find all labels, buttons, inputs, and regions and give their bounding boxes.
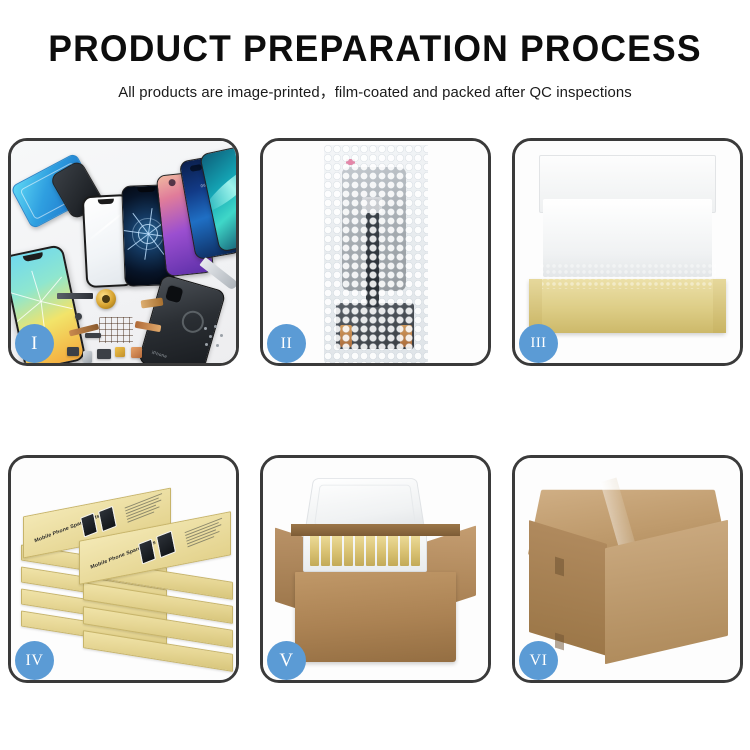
screws-group xyxy=(202,325,228,349)
step-card-1[interactable]: 06:08 iPh xyxy=(8,138,239,366)
earpiece-mesh xyxy=(85,333,101,338)
sealed-shipping-carton xyxy=(529,484,730,664)
step-numeral-4: IV xyxy=(26,652,44,670)
step-badge-6: VI xyxy=(519,641,558,680)
step-badge-3: III xyxy=(519,324,558,363)
page-header: PRODUCT PREPARATION PROCESS All products… xyxy=(0,0,750,102)
carton-seam-upper xyxy=(555,557,564,577)
yellow-box-tray xyxy=(529,279,726,333)
carton-body xyxy=(295,572,456,662)
product-preparation-page: PRODUCT PREPARATION PROCESS All products… xyxy=(0,0,750,750)
sim-tray-part xyxy=(83,351,92,363)
page-subtitle: All products are image-printed，film-coat… xyxy=(8,80,743,102)
step-badge-4: IV xyxy=(15,641,54,680)
round-speaker-part xyxy=(75,313,82,320)
step-card-6[interactable]: VI xyxy=(512,455,743,683)
step-card-4[interactable]: Mobile Phone Spare Parts Mobile Phone xyxy=(8,455,239,683)
step-numeral-2: II xyxy=(281,335,293,353)
step-badge-2: II xyxy=(267,324,306,363)
small-part-a xyxy=(67,347,79,356)
tray-right-lip xyxy=(713,279,726,333)
step-badge-5: V xyxy=(267,641,306,680)
step-numeral-5: V xyxy=(279,650,293,672)
copper-shield-chip xyxy=(99,317,133,343)
step-numeral-6: VI xyxy=(530,652,548,670)
copper-part xyxy=(131,347,142,358)
small-part-b xyxy=(97,349,111,359)
carton-left-face xyxy=(529,520,607,656)
carton-rim xyxy=(291,524,460,536)
process-step-grid: 06:08 iPh xyxy=(8,138,742,683)
metal-bracket-strip xyxy=(57,293,93,299)
step-card-2[interactable]: II xyxy=(260,138,491,366)
page-title: PRODUCT PREPARATION PROCESS xyxy=(15,30,735,69)
step-numeral-3: III xyxy=(531,335,547,352)
step-card-3[interactable]: III xyxy=(512,138,743,366)
camera-module xyxy=(164,284,185,305)
open-yellow-box xyxy=(525,149,730,339)
gold-contact-part xyxy=(115,347,125,357)
bubble-wrap-bag xyxy=(324,145,428,363)
step-numeral-1: I xyxy=(31,333,38,355)
step-card-5[interactable]: V xyxy=(260,455,491,683)
housing-label: iPhone xyxy=(151,350,168,359)
bubble-texture xyxy=(324,145,428,363)
step-badge-1: I xyxy=(15,324,54,363)
carton-seam-lower xyxy=(555,633,564,651)
box-stack: Mobile Phone Spare Parts Mobile Phone xyxy=(17,474,230,674)
vibration-motor-part xyxy=(96,289,116,309)
open-shipping-carton xyxy=(273,472,478,668)
